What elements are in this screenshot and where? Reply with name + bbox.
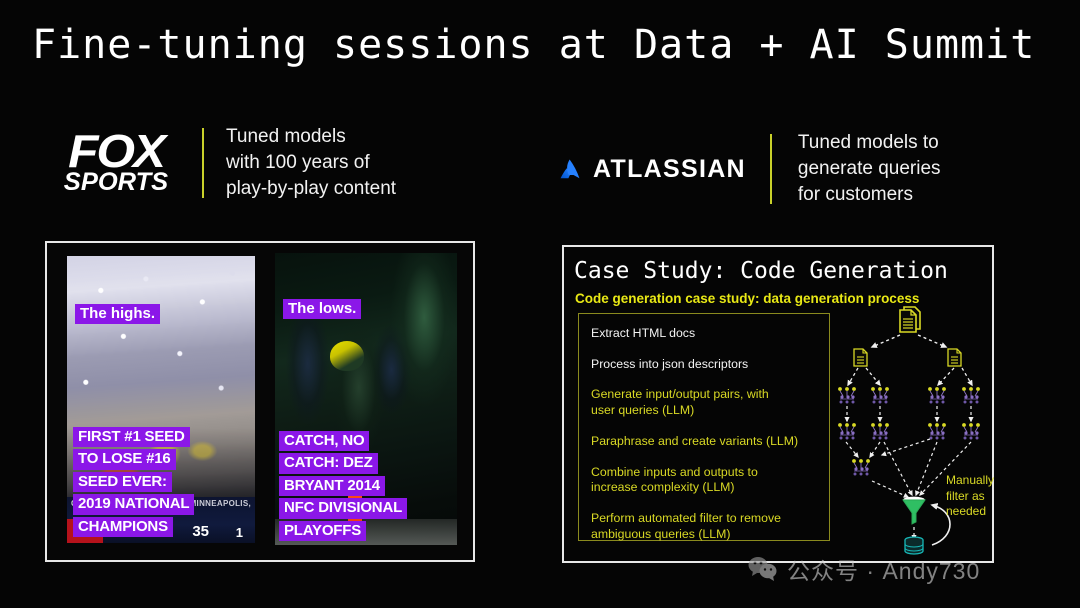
branch-document-icon [948, 349, 961, 366]
clip-the-highs-label: The highs. [75, 304, 160, 324]
caption-line: CHAMPIONS [73, 517, 173, 537]
scoreboard-score-secondary: 1 [236, 525, 243, 540]
process-step: Extract HTML docs [591, 326, 819, 342]
brand-divider-atlassian [770, 134, 772, 204]
process-step: Process into json descriptors [591, 357, 819, 373]
cluster-node-combined [852, 459, 870, 475]
process-step: Paraphrase and create variants (LLM) [591, 434, 819, 450]
caption-line: 2019 NATIONAL [73, 494, 194, 514]
atlassian-logo: ATLASSIAN [556, 155, 746, 184]
chip-label: The lows. [283, 299, 361, 319]
caption-line: TO LOSE #16 [73, 449, 176, 469]
brand-caption-atlassian: Tuned models to generate queries for cus… [798, 130, 941, 208]
case-study-subtitle: Code generation case study: data generat… [575, 291, 919, 306]
process-steps-box: Extract HTML docs Process into json desc… [578, 313, 830, 541]
branch-document-icon [854, 349, 867, 366]
caption-line: SEED EVER: [73, 472, 172, 492]
cluster-node [871, 423, 889, 439]
media-panel: CHAMPIONSHIP NATIONAL MINNEAPOLIS, 35 1 … [45, 241, 475, 562]
clip-the-lows-caption: CATCH, NO CATCH: DEZ BRYANT 2014 NFC DIV… [279, 431, 407, 541]
brand-caption-fox: Tuned models with 100 years of play-by-p… [226, 124, 396, 202]
process-step: Perform automated filter to remove ambig… [591, 511, 819, 542]
diagram-annotation: Manually filter as needed [946, 473, 994, 520]
case-study-panel: Case Study: Code Generation Code generat… [562, 245, 994, 563]
clip-the-lows-label: The lows. [283, 299, 361, 319]
caption-line: PLAYOFFS [279, 521, 366, 541]
cluster-node [928, 387, 946, 403]
root-document-icon [900, 307, 920, 332]
cluster-node [838, 423, 856, 439]
page-title: Fine-tuning sessions at Data + AI Summit [32, 22, 1035, 68]
caption-line: CATCH: DEZ [279, 453, 378, 473]
scoreboard-score: 35 [192, 523, 209, 540]
chip-label: The highs. [75, 304, 160, 324]
fox-logo-line2: SPORTS [51, 172, 182, 193]
clip-the-highs[interactable]: CHAMPIONSHIP NATIONAL MINNEAPOLIS, 35 1 … [67, 256, 255, 543]
brand-row-fox-sports: FOX SPORTS Tuned models with 100 years o… [52, 124, 396, 202]
cluster-node [838, 387, 856, 403]
cluster-node [928, 423, 946, 439]
process-step: Combine inputs and outputs to increase c… [591, 465, 819, 496]
watermark: 公众号 · Andy730 [748, 552, 980, 586]
caption-line: CATCH, NO [279, 431, 369, 451]
process-step: Generate input/output pairs, with user q… [591, 387, 819, 418]
caption-line: NFC DIVISIONAL [279, 498, 407, 518]
brand-row-atlassian: ATLASSIAN Tuned models to generate queri… [556, 130, 941, 208]
fox-sports-logo: FOX SPORTS [52, 133, 180, 192]
wechat-icon [748, 556, 778, 582]
cluster-node [962, 387, 980, 403]
clip-the-highs-caption: FIRST #1 SEED TO LOSE #16 SEED EVER: 201… [73, 427, 194, 537]
slide-root: Fine-tuning sessions at Data + AI Summit… [0, 0, 1080, 608]
atlassian-mark-icon [556, 155, 584, 183]
fox-logo-line1: FOX [47, 133, 185, 171]
watermark-text: 公众号 · Andy730 [787, 552, 980, 586]
player-helmet [330, 341, 364, 371]
funnel-icon [903, 497, 925, 524]
cluster-node [962, 423, 980, 439]
cluster-node [871, 387, 889, 403]
caption-line: FIRST #1 SEED [73, 427, 190, 447]
scoreboard-right-text: MINNEAPOLIS, [190, 499, 251, 508]
atlassian-wordmark: ATLASSIAN [593, 155, 746, 184]
clip-the-lows[interactable]: The lows. CATCH, NO CATCH: DEZ BRYANT 20… [275, 253, 457, 545]
caption-line: BRYANT 2014 [279, 476, 385, 496]
brand-divider-fox [202, 128, 204, 198]
data-generation-diagram: Manually filter as needed [832, 305, 994, 555]
case-study-title: Case Study: Code Generation [574, 258, 948, 284]
